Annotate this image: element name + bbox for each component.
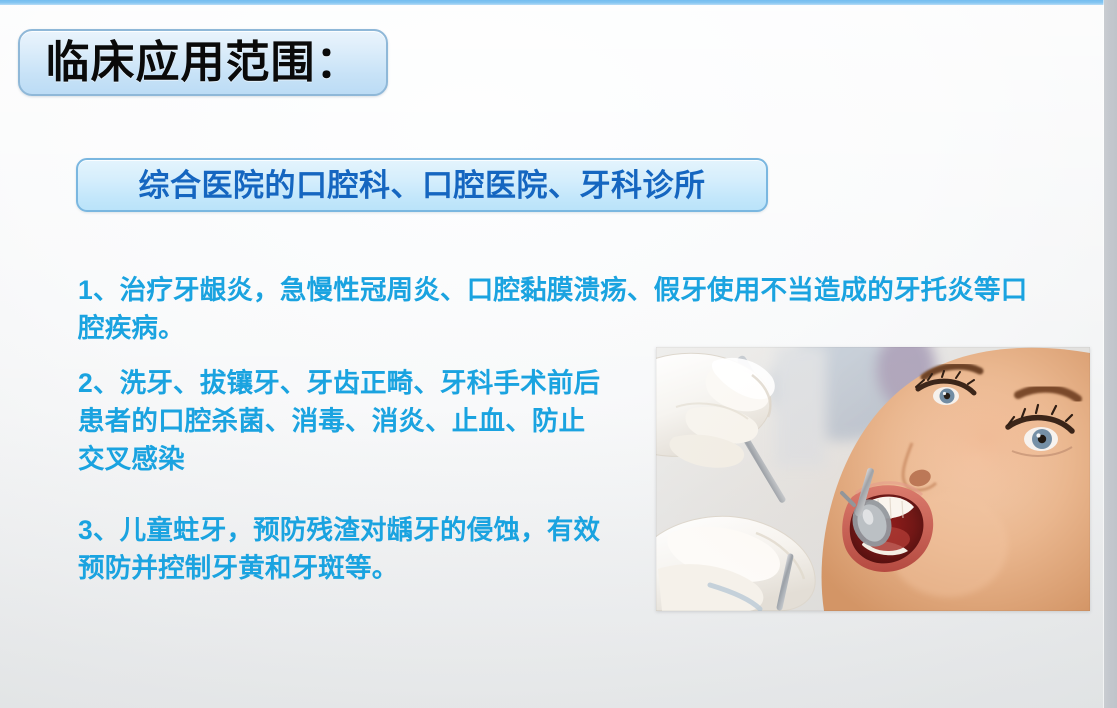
body-paragraph-1: 1、治疗牙龈炎，急慢性冠周炎、口腔黏膜溃疡、假牙使用不当造成的牙托炎等口腔疾病。	[78, 272, 1038, 347]
presentation-slide: 临床应用范围： 综合医院的口腔科、口腔医院、牙科诊所 1、治疗牙龈炎，急慢性冠周…	[0, 0, 1117, 708]
dental-examination-photo	[656, 347, 1090, 611]
slide-subtitle: 综合医院的口腔科、口腔医院、牙科诊所	[139, 170, 706, 201]
slide-title: 临床应用范围：	[46, 41, 361, 85]
slide-title-plate: 临床应用范围：	[18, 29, 388, 96]
body-paragraph-2: 2、洗牙、拔镶牙、牙齿正畸、牙科手术前后患者的口腔杀菌、消毒、消炎、止血、防止交…	[78, 365, 608, 478]
slide-subtitle-plate: 综合医院的口腔科、口腔医院、牙科诊所	[76, 158, 768, 212]
right-edge-bar	[1104, 0, 1117, 708]
body-paragraph-3: 3、儿童蛀牙，预防残渣对龋牙的侵蚀，有效预防并控制牙黄和牙斑等。	[78, 512, 626, 587]
top-accent-bar	[0, 0, 1117, 5]
